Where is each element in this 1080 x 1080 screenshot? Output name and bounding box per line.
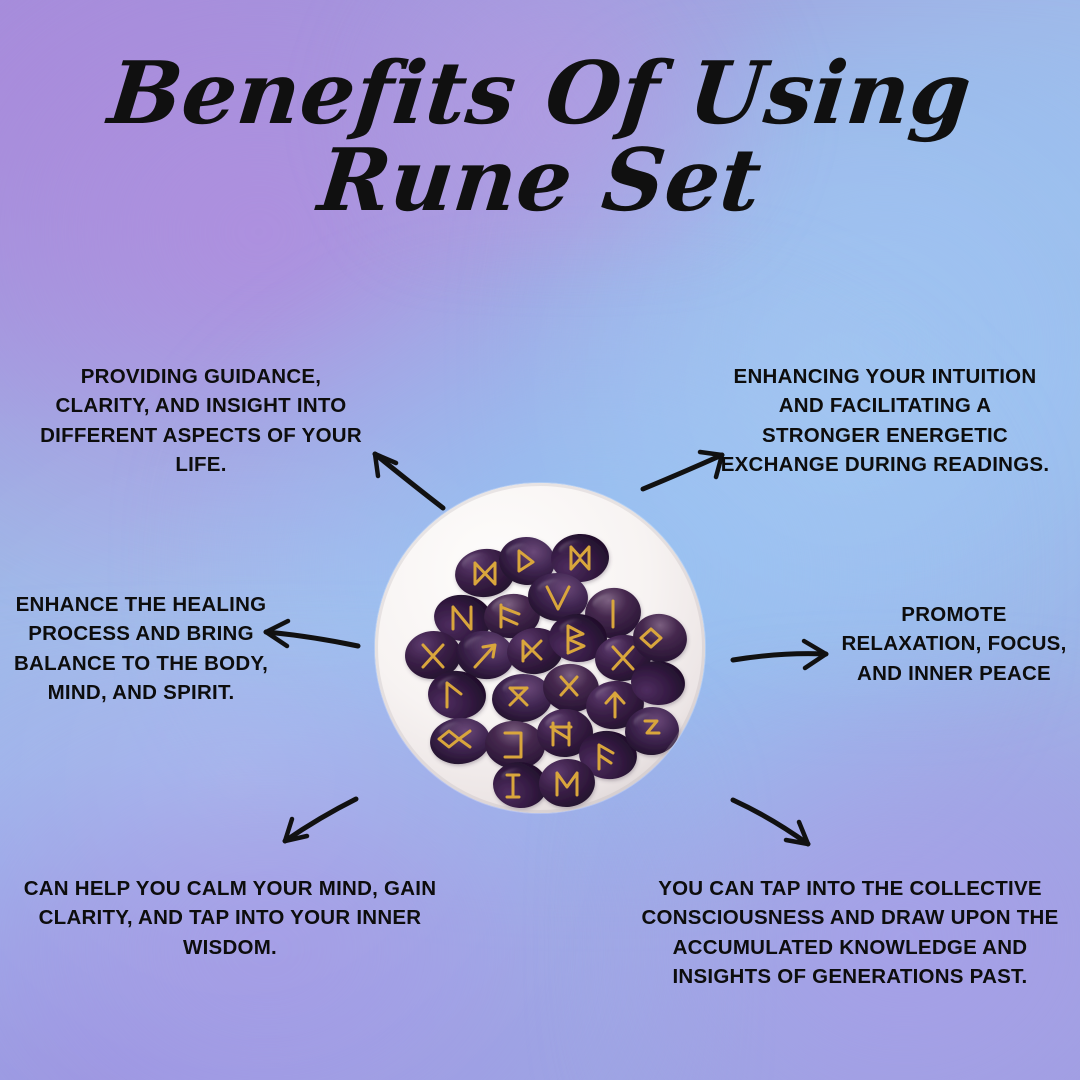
benefit-text-healing: ENHANCE THE HEALING PROCESS AND BRING BA… — [10, 590, 272, 707]
benefit-text-guidance: PROVIDING GUIDANCE, CLARITY, AND INSIGHT… — [36, 362, 366, 479]
benefit-text-relaxation: PROMOTE RELAXATION, FOCUS, AND INNER PEA… — [838, 600, 1070, 688]
rune-stones-photo — [375, 483, 705, 813]
infographic-canvas: Benefits Of Using Rune Set — [0, 0, 1080, 1080]
benefit-text-calm-mind: CAN HELP YOU CALM YOUR MIND, GAIN CLARIT… — [20, 874, 440, 962]
benefit-text-intuition: ENHANCING YOUR INTUITION AND FACILITATIN… — [720, 362, 1050, 479]
benefit-text-collective-consciousness: YOU CAN TAP INTO THE COLLECTIVE CONSCIOU… — [624, 874, 1076, 991]
